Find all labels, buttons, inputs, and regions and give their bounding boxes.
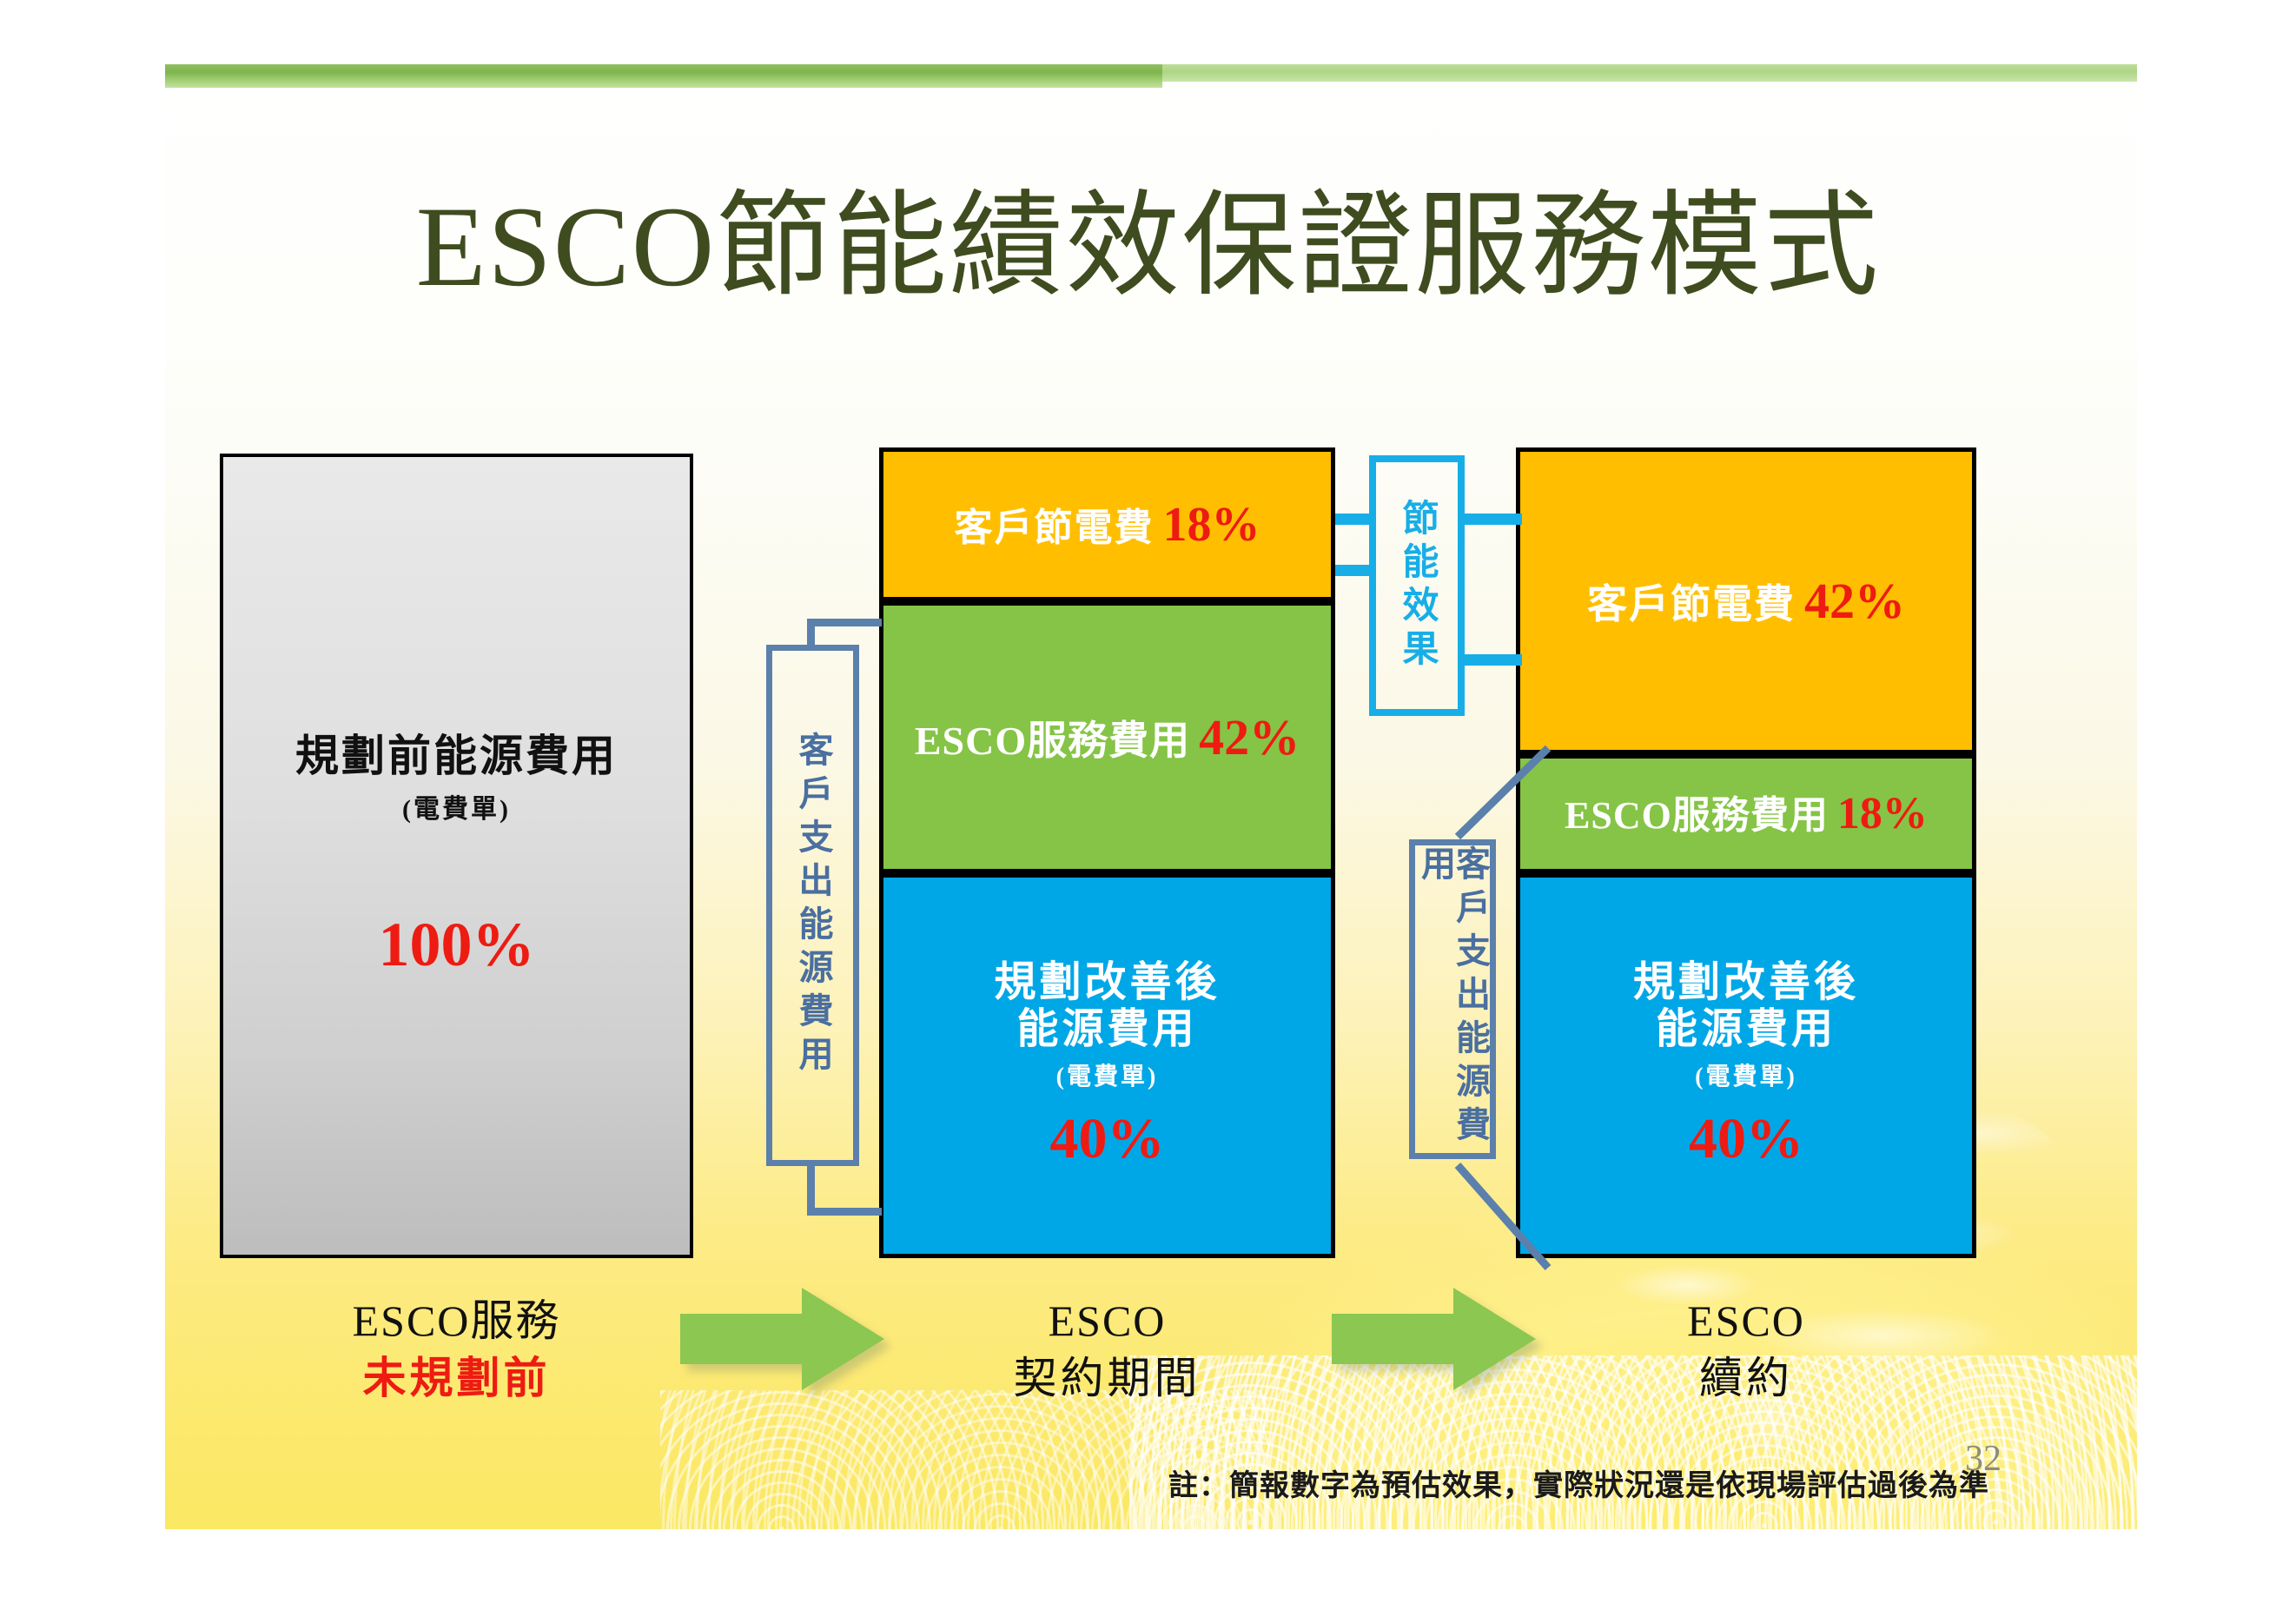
stage-before-line2: 未規劃前 — [220, 1349, 693, 1407]
renewal-green-percent: 18% — [1837, 788, 1928, 839]
contract-blue-subtitle: (電費單) — [1056, 1057, 1159, 1092]
contract-blue-line2: 能源費用 — [1016, 1006, 1197, 1053]
callout1-connector-bot-horz — [807, 1208, 882, 1216]
slide-root: ESCO節能績效保證服務模式 規劃前能源費用 (電費單) 100% 客戶節電費 … — [0, 0, 2296, 1617]
footnote-text: 註：簡報數字為預估效果，實際狀況還是依現場評估過後為準 — [1168, 1461, 1989, 1504]
header-accent-bar-left — [165, 64, 1162, 88]
contract-green-percent: 42% — [1199, 708, 1300, 766]
callout-saving-effect: 節能效果 — [1369, 455, 1465, 716]
before-title: 規劃前能源費用 — [295, 732, 618, 780]
renewal-blue-percent: 40% — [1689, 1106, 1803, 1172]
bar-renewal-customer-saving: 客戶節電費 42% — [1516, 447, 1976, 754]
before-percent: 100% — [379, 909, 535, 981]
arrow-before-to-contract — [680, 1288, 884, 1390]
renewal-blue-line1: 規劃改善後 — [1633, 959, 1859, 1006]
renewal-orange-label: 客戶節電費 — [1587, 582, 1796, 627]
stage-contract-line2: 契約期間 — [879, 1349, 1335, 1407]
saving-connector-right-upper — [1458, 514, 1522, 525]
stage-label-before: ESCO服務 未規劃前 — [220, 1292, 693, 1407]
stage-label-renewal: ESCO 續約 — [1516, 1292, 1976, 1407]
before-subtitle: (電費單) — [402, 787, 511, 825]
renewal-orange-percent: 42% — [1804, 572, 1905, 630]
bar-contract-customer-saving: 客戶節電費 18% — [879, 447, 1335, 601]
contract-blue-line1: 規劃改善後 — [994, 959, 1220, 1006]
stage-renewal-line2: 續約 — [1516, 1349, 1976, 1407]
header-accent-bar-right — [1162, 64, 2137, 82]
bar-renewal-esco-fee: ESCO服務費用 18% — [1516, 754, 1976, 873]
stage-contract-line1: ESCO — [879, 1292, 1335, 1349]
stage-before-line1: ESCO服務 — [220, 1292, 693, 1349]
contract-blue-percent: 40% — [1050, 1106, 1165, 1172]
renewal-blue-subtitle: (電費單) — [1695, 1057, 1797, 1092]
contract-orange-percent: 18% — [1163, 497, 1260, 553]
stage-renewal-line1: ESCO — [1516, 1292, 1976, 1349]
bar-contract-improved-energy-cost: 規劃改善後 能源費用 (電費單) 40% — [879, 873, 1335, 1258]
callout1-connector-top-horz — [807, 619, 882, 626]
page-number: 32 — [1965, 1438, 2002, 1480]
callout-customer-spend-contract-label: 客戶支出能源費用 — [796, 732, 830, 1079]
callout-saving-effect-label: 節能效果 — [1399, 499, 1435, 673]
bar-contract-esco-fee: ESCO服務費用 42% — [879, 601, 1335, 873]
contract-green-label: ESCO服務費用 — [915, 719, 1190, 764]
renewal-blue-line2: 能源費用 — [1656, 1006, 1836, 1053]
callout-customer-spend-contract: 客戶支出能源費用 — [766, 645, 859, 1166]
page-title: ESCO節能績效保證服務模式 — [0, 189, 2296, 304]
callout-customer-spend-renewal-label: 客戶支出能源費用 — [1418, 845, 1487, 1153]
arrow-contract-to-renewal — [1332, 1288, 1536, 1390]
bar-renewal-improved-energy-cost: 規劃改善後 能源費用 (電費單) 40% — [1516, 873, 1976, 1258]
callout-customer-spend-renewal: 客戶支出能源費用 — [1409, 839, 1496, 1159]
saving-connector-right-lower — [1458, 654, 1522, 666]
bar-before-planning: 規劃前能源費用 (電費單) 100% — [220, 454, 693, 1258]
renewal-green-label: ESCO服務費用 — [1565, 794, 1829, 837]
contract-orange-label: 客戶節電費 — [955, 507, 1155, 549]
stage-label-contract: ESCO 契約期間 — [879, 1292, 1335, 1407]
